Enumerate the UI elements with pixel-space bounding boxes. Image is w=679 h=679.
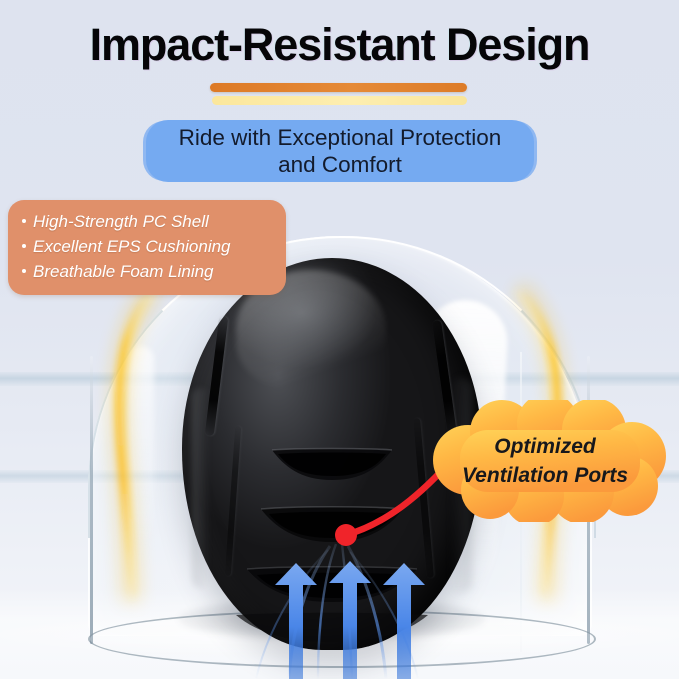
feature-label: Excellent EPS Cushioning (33, 234, 231, 259)
feature-list-panel: High-Strength PC Shell Excellent EPS Cus… (8, 200, 286, 295)
subtitle-banner: Ride with Exceptional Protection and Com… (146, 120, 534, 182)
bullet-icon (22, 219, 26, 223)
callout-line-1: Optimized (494, 432, 596, 461)
callout-line-2: Ventilation Ports (462, 461, 628, 490)
bullet-icon (22, 269, 26, 273)
helmet-vent-slot-2 (257, 504, 407, 548)
subtitle-line-1: Ride with Exceptional Protection (179, 125, 502, 150)
helmet-vent-slot-4 (232, 610, 432, 646)
callout-cloud: Optimized Ventilation Ports (416, 400, 674, 522)
helmet-vent-slot-1 (268, 446, 396, 486)
title-rule-yellow (212, 96, 467, 105)
infographic-canvas: Impact-Resistant Design Ride with Except… (0, 0, 679, 679)
callout-text: Optimized Ventilation Ports (416, 400, 674, 522)
feature-label: Breathable Foam Lining (33, 259, 214, 284)
list-item: Excellent EPS Cushioning (22, 234, 274, 259)
subtitle-line-2: and Comfort (278, 152, 402, 177)
feature-label: High-Strength PC Shell (33, 209, 209, 234)
subtitle-text: Ride with Exceptional Protection and Com… (146, 120, 534, 182)
page-title: Impact-Resistant Design (0, 19, 679, 71)
glass-highlight-secondary (128, 346, 154, 556)
helmet-vent-slot-3 (243, 564, 421, 608)
feature-list: High-Strength PC Shell Excellent EPS Cus… (22, 209, 274, 284)
bullet-icon (22, 244, 26, 248)
glass-edge-left (90, 356, 93, 644)
list-item: High-Strength PC Shell (22, 209, 274, 234)
title-rule-orange (210, 83, 467, 92)
list-item: Breathable Foam Lining (22, 259, 274, 284)
